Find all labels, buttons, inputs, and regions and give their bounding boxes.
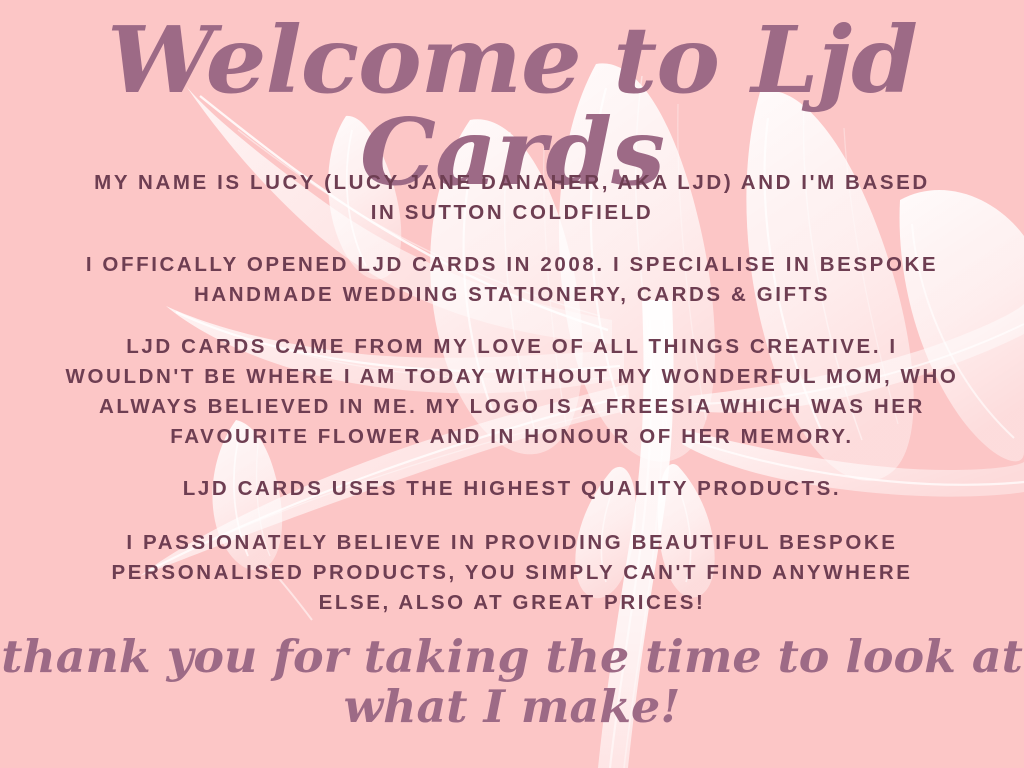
paragraph-promise: I passionately believe in providing beau… bbox=[72, 528, 952, 618]
paragraph-quality: LJD Cards uses the highest quality produ… bbox=[72, 474, 952, 504]
welcome-card: Welcome to Ljd Cards My name is Lucy (Lu… bbox=[0, 0, 1024, 768]
paragraph-opened: I offically opened LJD Cards in 2008. I … bbox=[72, 250, 952, 310]
about-text-block: My name is Lucy (Lucy Jane Danaher, aka … bbox=[0, 168, 1024, 618]
paragraph-intro: My name is Lucy (Lucy Jane Danaher, aka … bbox=[92, 168, 932, 228]
card-content: Welcome to Ljd Cards My name is Lucy (Lu… bbox=[0, 0, 1024, 768]
signoff-message: thank you for taking the time to look at… bbox=[0, 632, 1024, 731]
paragraph-origin: LJD Cards came from my love of all thing… bbox=[62, 332, 962, 452]
